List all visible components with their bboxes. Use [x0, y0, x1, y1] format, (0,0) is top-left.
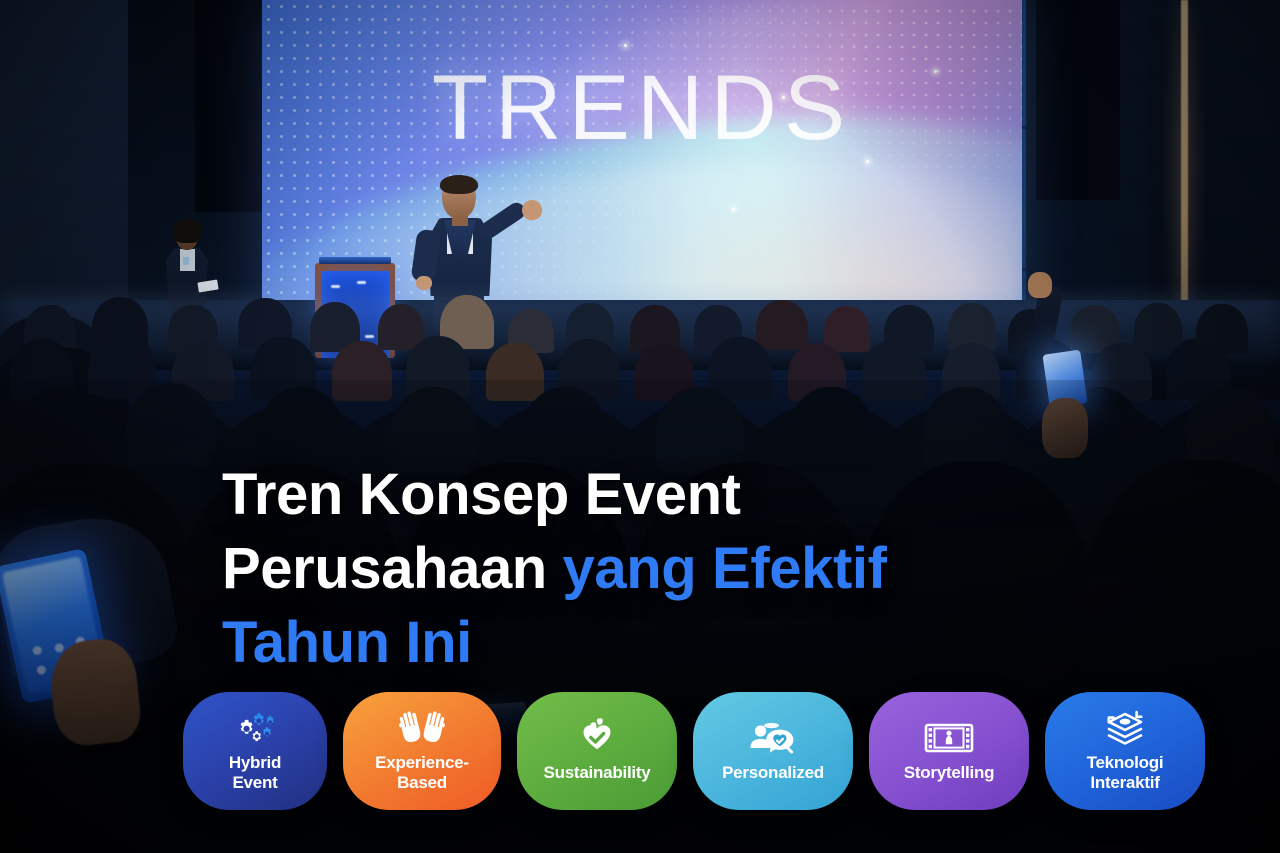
moderator-name-badge	[183, 257, 189, 265]
podium-display-glint	[331, 285, 340, 288]
badge-personalized[interactable]: Personalized	[693, 692, 853, 810]
headline-line-3: Tahun Ini	[222, 606, 1102, 680]
headline-line-2-plain: Perusahaan	[222, 536, 563, 601]
badge-label: Storytelling	[904, 763, 995, 783]
person-heart-chat-icon	[748, 718, 798, 758]
badge-hybrid-event[interactable]: Hybrid Event	[183, 692, 327, 810]
layered-tech-icon	[1101, 708, 1149, 748]
audience-member	[1134, 303, 1182, 351]
wall-recess-right	[1036, 0, 1120, 200]
speaker-hair	[440, 175, 478, 194]
badge-teknologi-interaktif[interactable]: Teknologi Interaktif	[1045, 692, 1205, 810]
badge-experience-based[interactable]: Experience- Based	[343, 692, 501, 810]
gears-icon	[229, 708, 281, 748]
badge-storytelling[interactable]: Storytelling	[869, 692, 1029, 810]
raised-hand	[1028, 272, 1052, 298]
screen-warm-tint	[604, 171, 1022, 311]
badge-label: Teknologi Interaktif	[1087, 753, 1164, 793]
headline-line-2-accent: yang Efektif	[563, 536, 887, 601]
audience-member	[756, 300, 808, 350]
heart-leaf-check-icon	[575, 718, 619, 758]
badge-label: Hybrid Event	[229, 753, 281, 793]
headline-line-2: Perusahaan yang Efektif	[222, 532, 1102, 606]
sparkle	[732, 208, 735, 211]
page-title: Tren Konsep Event Perusahaan yang Efekti…	[222, 458, 1102, 680]
badge-label: Personalized	[722, 763, 824, 783]
raised-hands-icon	[399, 708, 445, 748]
screen-title-text: TRENDS	[262, 62, 1022, 154]
speaker-right-arm	[477, 199, 528, 241]
film-strip-icon	[924, 718, 974, 758]
podium-top-edge	[319, 257, 391, 264]
sparkle	[624, 44, 627, 47]
trend-badge-row: Hybrid Event	[183, 692, 1205, 810]
moderator-hair	[173, 219, 202, 243]
audience-member	[824, 306, 870, 352]
headline-line-1: Tren Konsep Event	[222, 458, 1102, 532]
speaker-left-hand	[416, 276, 432, 290]
badge-sustainability[interactable]: Sustainability	[517, 692, 677, 810]
moderator-notes	[197, 279, 218, 292]
badge-label: Experience- Based	[375, 753, 469, 793]
poster-root: TRENDS	[0, 0, 1280, 853]
badge-label: Sustainability	[543, 763, 650, 783]
speaker-right-hand	[519, 197, 544, 222]
sparkle	[866, 160, 869, 163]
podium-display-glint	[357, 281, 366, 284]
